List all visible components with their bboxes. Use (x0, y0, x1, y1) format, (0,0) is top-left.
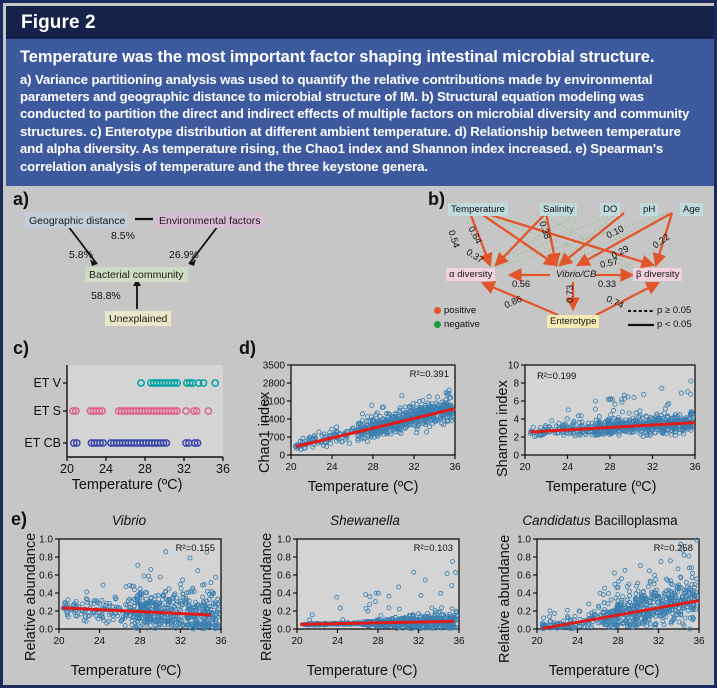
b-coef-8: 0.56 (512, 279, 530, 289)
b-node-age: Age (680, 203, 703, 216)
ytick-label: 0.8 (39, 553, 53, 564)
legend-p-nonsignificant: p ≥ 0.05 (657, 305, 691, 316)
ytick-label: 3500 (263, 361, 286, 372)
panel-c-ytick-0: ET V (33, 376, 61, 390)
xtick-label: 24 (94, 636, 106, 647)
ytick-label: 10 (508, 361, 520, 372)
xtick-label: 24 (572, 636, 584, 647)
xtick-label: 32 (175, 636, 187, 647)
panel-d-shannon-plot: Shannon index 20242832360246810R²=0.199 … (481, 355, 713, 503)
xtick-label: 20 (531, 636, 543, 647)
caption-body: a) Variance partitioning analysis was us… (20, 71, 703, 176)
r2-label: R²=0.155 (176, 543, 215, 554)
xtick-label: 36 (689, 462, 701, 473)
ytick-label: 8 (513, 379, 519, 390)
pct-environmental: 26.9% (169, 249, 199, 261)
xtick-label: 24 (326, 462, 338, 473)
xtick-label: 36 (215, 636, 227, 647)
ytick-label: 2 (513, 433, 519, 444)
b-coef-10: 0.73 (565, 285, 575, 303)
xtick-label: 20 (285, 462, 297, 473)
panel-d-shannon-svg: 20242832360246810R²=0.199 (481, 355, 713, 483)
ytick-label: 0.4 (39, 589, 53, 600)
xtick-label: 20 (291, 636, 303, 647)
b-node-salinity: Salinity (540, 203, 577, 216)
panel-e-candidatus-title: Candidatus Bacilloplasma (485, 513, 715, 528)
xtick-label: 20 (519, 462, 531, 473)
panel-c-xtick: 24 (99, 462, 113, 476)
xtick-label: 24 (332, 636, 344, 647)
b-node-enterotype: Enterotype (547, 315, 599, 328)
xtick-label: 36 (693, 636, 705, 647)
panel-e-shewanella-xlabel: Temperature (ºC) (267, 663, 457, 679)
xtick-label: 24 (562, 462, 574, 473)
r2-label: R²=0.258 (654, 543, 693, 554)
panel-c-enterotype-distribution: ET VET SET CB2024283236 Temperature (ºC) (9, 355, 235, 503)
ytick-label: 0.4 (517, 589, 531, 600)
legend-positive: positive (434, 305, 476, 316)
legend-negative: negative (434, 319, 480, 330)
panel-e-vibrio-xlabel: Temperature (ºC) (31, 663, 221, 679)
ytick-label: 0.2 (39, 607, 53, 618)
ytick-label: 0 (279, 451, 285, 462)
ytick-label: 0.6 (517, 571, 531, 582)
figure-number-label: Figure 2 (6, 12, 96, 34)
candidatus-species-word: Bacilloplasma (594, 513, 677, 528)
ytick-label: 0.8 (517, 553, 531, 564)
ytick-label: 0.0 (277, 625, 291, 636)
figure-header-bar: Figure 2 (6, 6, 717, 39)
panel-e-candidatus-plot: Candidatus Bacilloplasma Relative abunda… (483, 511, 717, 688)
panel-c-ytick-2: ET CB (24, 436, 61, 450)
ytick-label: 1.0 (39, 535, 53, 546)
figure-container: Figure 2 Temperature was the most import… (0, 0, 717, 688)
panel-c-xtick: 32 (177, 462, 191, 476)
ytick-label: 0.4 (277, 589, 291, 600)
panel-d-chao1-svg: 202428323607001400210028003500R²=0.391 (243, 355, 473, 483)
candidatus-genus-word: Candidatus (522, 513, 590, 528)
ytick-label: 4 (513, 415, 519, 426)
xtick-label: 28 (604, 462, 616, 473)
r2-label: R²=0.199 (537, 371, 576, 382)
ytick-label: 0 (513, 451, 519, 462)
panel-d-chao1-ylabel: Chao1 index (257, 392, 273, 473)
xtick-label: 28 (612, 636, 624, 647)
ytick-label: 6 (513, 397, 519, 408)
negative-dot-icon (434, 321, 441, 328)
xtick-label: 36 (449, 462, 461, 473)
ytick-label: 1.0 (277, 535, 291, 546)
xtick-label: 20 (53, 636, 65, 647)
ytick-label: 0.0 (517, 625, 531, 636)
ytick-label: 2800 (263, 379, 286, 390)
panel-e-candidatus-xlabel: Temperature (ºC) (509, 663, 699, 679)
panel-d-shannon-ylabel: Shannon index (495, 380, 511, 477)
ytick-label: 0.6 (277, 571, 291, 582)
xtick-label: 36 (453, 636, 465, 647)
panel-e-vibrio-title: Vibrio (39, 513, 219, 528)
panel-c-xtick: 20 (60, 462, 74, 476)
panel-c-ytick-1: ET S (33, 404, 61, 418)
ytick-label: 0.0 (39, 625, 53, 636)
ytick-label: 0.8 (277, 553, 291, 564)
panel-c-xtick: 36 (216, 462, 230, 476)
r2-label: R²=0.391 (410, 369, 449, 380)
caption-title: Temperature was the most important facto… (20, 47, 703, 68)
xtick-label: 32 (647, 462, 659, 473)
b-node-temperature: Temperature (448, 203, 508, 216)
b-node-ph: pH (640, 203, 658, 216)
panel-e-candidatus-svg: 20242832360.00.20.40.60.81.0R²=0.258 (483, 529, 717, 667)
ytick-label: 0.6 (39, 571, 53, 582)
pct-unexplained: 58.8% (91, 290, 121, 302)
xtick-label: 28 (367, 462, 379, 473)
panel-d-chao1-xlabel: Temperature (ºC) (263, 479, 463, 495)
figure-caption-block: Temperature was the most important facto… (6, 39, 717, 186)
xtick-label: 28 (134, 636, 146, 647)
pct-shared: 8.5% (111, 230, 135, 242)
node-environmental-factors: Environmental factors (155, 213, 265, 228)
panel-e-vibrio-svg: 20242832360.00.20.40.60.81.0R²=0.155 (9, 529, 237, 667)
r2-label: R²=0.103 (414, 543, 453, 554)
b-node-vibrio-cb: Vibrio/CB (553, 268, 599, 281)
panel-d-shannon-xlabel: Temperature (ºC) (501, 479, 701, 495)
xtick-label: 28 (372, 636, 384, 647)
panel-a-variance-partitioning: Geographic distance Environmental factor… (13, 189, 363, 329)
panel-c-xtick: 28 (138, 462, 152, 476)
ytick-label: 0.2 (517, 607, 531, 618)
xtick-label: 32 (408, 462, 420, 473)
panel-c-xlabel: Temperature (ºC) (27, 477, 227, 493)
node-bacterial-community: Bacterial community (85, 267, 188, 282)
xtick-label: 32 (413, 636, 425, 647)
legend-p-significant: p < 0.05 (657, 319, 692, 330)
panel-e-shewanella-title: Shewanella (275, 513, 455, 528)
pct-geographic: 5.8% (69, 249, 93, 261)
node-geographic-distance: Geographic distance (25, 213, 129, 228)
b-node-alpha-diversity: α diversity (446, 268, 495, 281)
panel-c-plot: ET VET SET CB2024283236 (9, 355, 235, 483)
node-unexplained: Unexplained (105, 311, 171, 326)
panel-e-shewanella-svg: 20242832360.00.20.40.60.81.0R²=0.103 (245, 529, 477, 667)
b-coef-9: 0.33 (598, 279, 616, 289)
b-node-do: DO (600, 203, 620, 216)
panel-e-shewanella-plot: Shewanella Relative abundance 2024283236… (245, 511, 477, 688)
panel-e-vibrio-plot: Vibrio Relative abundance 20242832360.00… (9, 511, 237, 688)
ytick-label: 1.0 (517, 535, 531, 546)
xtick-label: 32 (653, 636, 665, 647)
b-node-beta-diversity: β diversity (633, 268, 682, 281)
panel-b-sem-diagram: Temperature Salinity DO pH Age α diversi… (428, 189, 717, 337)
panel-d-chao1-plot: Chao1 index 2024283236070014002100280035… (243, 355, 473, 503)
ytick-label: 0.2 (277, 607, 291, 618)
positive-dot-icon (434, 307, 441, 314)
